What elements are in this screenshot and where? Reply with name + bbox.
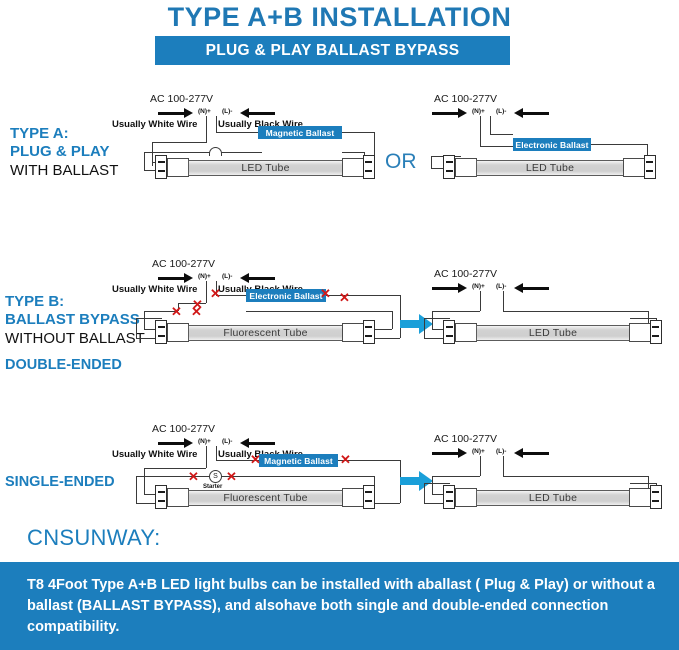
x-mark-se-3: ✕ (250, 454, 261, 465)
x-mark-se-2: ✕ (226, 471, 237, 482)
wire-right-down-b (392, 311, 393, 329)
tube-left-neck-b-right (455, 323, 477, 342)
arrow-head-line-in-right-icon (458, 108, 467, 118)
ac-voltage-label-se: AC 100-277V (152, 423, 215, 435)
arrow-tail-out-se (249, 442, 275, 445)
tube-right-pin-1-se (365, 491, 372, 493)
arrow-head-line-in-icon (184, 108, 193, 118)
tube-left-endcap-se-right (443, 485, 455, 509)
tube-left-pin-1 (158, 161, 165, 163)
subtitle-banner: PLUG & PLAY BALLAST BYPASS (155, 36, 510, 65)
arrow-tail-out-se-right (523, 452, 549, 455)
wire-live-to-ballast (216, 132, 258, 133)
footer-banner: T8 4Foot Type A+B LED light bulbs can be… (0, 562, 679, 650)
wire-left-outer-run-b-right (424, 318, 450, 319)
tube-left-neck-b (167, 323, 189, 342)
arrow-head-line-out-se-icon (240, 438, 249, 448)
wire-left-down-right-diagram (431, 156, 432, 168)
arrow-head-line-in-se-icon (184, 438, 193, 448)
wire-neutral-left-run-se-right (432, 476, 480, 477)
tube-left-neck-right (455, 158, 477, 177)
section-label-type-a: TYPE A: PLUG & PLAY WITH BALLAST (10, 125, 118, 180)
wire-top-left-run (152, 142, 207, 143)
x-mark-bypass-6: ✕ (339, 292, 350, 303)
tube-right-neck-b (342, 323, 364, 342)
arrow-head-line-in-se-right-icon (458, 448, 467, 458)
type-b-label-line1: TYPE B: (5, 293, 145, 311)
led-tube-body: LED Tube (188, 160, 343, 176)
subtitle-text: PLUG & PLAY BALLAST BYPASS (206, 42, 460, 60)
fluorescent-tube-label-se: Fluorescent Tube (223, 492, 307, 504)
brand-name: CNSUNWAY: (27, 525, 161, 551)
tube-right-endcap-se-right (650, 485, 662, 509)
section-label-type-b: TYPE B: BALLAST BYPASS WITHOUT BALLAST (5, 293, 145, 348)
arrow-tail-in-se (158, 442, 184, 445)
tube-right-pin-1-b-right (652, 326, 659, 328)
wire-live-drop-b-right (503, 291, 504, 311)
tube-right-pin-1-right (646, 161, 653, 163)
wire-neutral-drop-right (480, 116, 481, 146)
arrow-head-line-out-icon (240, 108, 249, 118)
wire-to-ballast-right-2 (490, 134, 513, 135)
tube-left-neck-se-right (455, 488, 477, 507)
tube-left-neck-se (167, 488, 189, 507)
arrow-head-line-out-se-right-icon (514, 448, 523, 458)
starter-symbol-icon: S (209, 470, 222, 483)
tube-left-pin-2-b-right (446, 335, 453, 337)
type-b-label-line3: WITHOUT BALLAST (5, 330, 145, 348)
wire-ballast-bottom-b (246, 311, 392, 312)
wire-ballast-right-out (342, 132, 374, 133)
led-tube-body-se-right: LED Tube (476, 490, 630, 506)
wire-left-outer-run-se-right (424, 483, 450, 484)
wire-live-right-run-se-right (503, 476, 648, 477)
pin-label-live-b: (L)- (222, 273, 232, 280)
arrow-tail-in-b (158, 277, 184, 280)
wire-left-down-2 (144, 152, 145, 170)
wire-left-outer-down-se-right (424, 483, 425, 503)
pin-label-neutral-se-right: (N)+ (472, 448, 485, 455)
pin-label-neutral: (N)+ (198, 108, 211, 115)
tube-right-pin-2-se-right (652, 500, 659, 502)
led-tube-body-b-right: LED Tube (476, 325, 630, 341)
tube-left-endcap (155, 155, 167, 179)
type-a-label-line3: WITH BALLAST (10, 162, 118, 180)
footer-description: T8 4Foot Type A+B LED light bulbs can be… (27, 575, 659, 638)
wire-right-outer-run-se-right (630, 483, 656, 484)
magnetic-ballast-label: Magnetic Ballast (266, 128, 335, 138)
arrow-tail-out-right (523, 112, 549, 115)
wire-left-down-se (144, 468, 145, 494)
arrow-head-line-in-b-icon (184, 273, 193, 283)
pin-label-neutral-b-right: (N)+ (472, 283, 485, 290)
tube-left-pin-2 (158, 170, 165, 172)
installation-diagram-page: TYPE A+B INSTALLATION PLUG & PLAY BALLAS… (0, 0, 679, 650)
white-wire-label: Usually White Wire (112, 119, 197, 130)
ac-voltage-label-se-right: AC 100-277V (434, 433, 497, 445)
tube-right-pin-1 (365, 161, 372, 163)
or-connector-text: OR (385, 150, 417, 174)
pin-label-live-se: (L)- (222, 438, 232, 445)
tube-right-pin-2-b-right (652, 335, 659, 337)
wire-to-ballast-right (480, 146, 513, 147)
tube-left-pin-2-b (158, 335, 165, 337)
electronic-ballast-box: Electronic Ballast (513, 138, 591, 151)
pin-label-neutral-se: (N)+ (198, 438, 211, 445)
tube-right-neck-b-right (629, 323, 651, 342)
pin-label-neutral-b: (N)+ (198, 273, 211, 280)
ac-voltage-label-right: AC 100-277V (434, 93, 497, 105)
arrow-head-line-out-b-right-icon (514, 283, 523, 293)
arrow-tail-in-se-right (432, 452, 458, 455)
tube-left-pin-1-se (158, 491, 165, 493)
page-title: TYPE A+B INSTALLATION (0, 2, 679, 33)
starter-symbol-letter: S (213, 473, 218, 480)
led-tube-label-se-right: LED Tube (529, 492, 577, 504)
wire-live-right-run-b-right (503, 311, 648, 312)
tube-right-pin-2-b (365, 335, 372, 337)
magnetic-ballast-label-se: Magnetic Ballast (264, 456, 333, 466)
wire-left-outer-run-se (136, 476, 162, 477)
wire-neutral-drop-se-right (480, 456, 481, 476)
wire-left-down-se-right (432, 476, 433, 494)
wire-left-outer-down-b-right (424, 318, 425, 338)
wire-neutral-drop-b-right (480, 291, 481, 311)
wire-live-drop-se-right (503, 456, 504, 476)
tube-left-pin-2-se-right (446, 500, 453, 502)
tube-left-endcap-b-right (443, 320, 455, 344)
arrow-head-line-out-right-icon (514, 108, 523, 118)
white-wire-label-se: Usually White Wire (112, 449, 197, 460)
tube-left-pin-2-se (158, 500, 165, 502)
tube-right-endcap (363, 155, 375, 179)
arrow-tail-out (249, 112, 275, 115)
tube-right-pin-2-right (646, 170, 653, 172)
tube-right-endcap-se (363, 485, 375, 509)
tube-right-neck-se (342, 488, 364, 507)
type-a-label-line1: TYPE A: (10, 125, 118, 143)
wire-neutral-drop-b (206, 281, 207, 303)
wire-live-drop (216, 116, 217, 132)
single-ended-label: SINGLE-ENDED (5, 474, 115, 490)
arrow-tail-out-b (249, 277, 275, 280)
type-b-label-line2: BALLAST BYPASS (5, 311, 145, 329)
wire-crossover-hop-icon (209, 147, 222, 156)
tube-right-endcap-right (644, 155, 656, 179)
led-tube-label: LED Tube (241, 162, 289, 174)
wire-second-run (144, 152, 207, 153)
wire-left-outer-run-b (136, 318, 162, 319)
fluorescent-tube-label: Fluorescent Tube (223, 327, 307, 339)
wire-left-down-b-right (432, 311, 433, 329)
tube-right-pin-1-b (365, 326, 372, 328)
tube-left-pin-2-right (446, 170, 453, 172)
led-tube-body-right: LED Tube (476, 160, 624, 176)
wire-right-cap-run-b (374, 329, 392, 330)
arrow-tail-in-b-right (432, 287, 458, 290)
x-mark-bypass-4: ✕ (191, 306, 202, 317)
fluorescent-tube-body: Fluorescent Tube (188, 325, 343, 341)
tube-left-endcap-se (155, 485, 167, 509)
electronic-ballast-label-b: Electronic Ballast (249, 291, 322, 301)
pin-label-live: (L)- (222, 108, 232, 115)
tube-left-pin-1-right (446, 161, 453, 163)
pin-label-neutral-right: (N)+ (472, 108, 485, 115)
tube-right-pin-2 (365, 170, 372, 172)
led-tube-label-right: LED Tube (526, 162, 574, 174)
tube-right-neck-right (623, 158, 645, 177)
tube-right-pin-1-se-right (652, 491, 659, 493)
ac-voltage-label-b-right: AC 100-277V (434, 268, 497, 280)
type-a-label-line2: PLUG & PLAY (10, 143, 118, 161)
tube-left-neck (167, 158, 189, 177)
x-mark-bypass-2: ✕ (210, 288, 221, 299)
ac-voltage-label: AC 100-277V (150, 93, 213, 105)
white-wire-label-b: Usually White Wire (112, 284, 197, 295)
electronic-ballast-label: Electronic Ballast (515, 140, 588, 150)
x-mark-se-1: ✕ (188, 471, 199, 482)
wire-right-outer-cap-se (374, 503, 400, 504)
wire-ballast-out-right (591, 144, 647, 145)
x-mark-se-4: ✕ (340, 454, 351, 465)
tube-left-endcap-b (155, 320, 167, 344)
tube-right-neck (342, 158, 364, 177)
wire-left-outer-down-b (136, 318, 137, 338)
tube-right-endcap-b-right (650, 320, 662, 344)
arrow-head-line-in-b-right-icon (458, 283, 467, 293)
fluorescent-tube-body-se: Fluorescent Tube (188, 490, 343, 506)
arrow-head-line-out-b-icon (240, 273, 249, 283)
wire-left-outer-down-se (136, 476, 137, 503)
arrow-tail-in-right (432, 112, 458, 115)
pin-label-live-se-right: (L)- (496, 448, 506, 455)
tube-right-pin-2-se (365, 500, 372, 502)
wire-right-outer-cap-b (374, 338, 400, 339)
led-tube-label-b-right: LED Tube (529, 327, 577, 339)
tube-right-neck-se-right (629, 488, 651, 507)
tube-left-pin-1-se-right (446, 491, 453, 493)
magnetic-ballast-box: Magnetic Ballast (258, 126, 342, 139)
wire-neutral-drop (206, 116, 207, 142)
tube-right-endcap-b (363, 320, 375, 344)
x-mark-bypass-5: ✕ (320, 288, 331, 299)
double-ended-label: DOUBLE-ENDED (5, 357, 122, 373)
magnetic-ballast-box-se: Magnetic Ballast (259, 454, 338, 467)
pin-label-live-right: (L)- (496, 108, 506, 115)
wire-left-down-b (144, 311, 145, 329)
wire-live-drop-right (490, 116, 491, 134)
wire-ballast-right-out-2 (342, 152, 364, 153)
wire-neutral-drop-se (206, 446, 207, 468)
tube-left-pin-1-b-right (446, 326, 453, 328)
tube-left-endcap-right (443, 155, 455, 179)
pin-label-live-b-right: (L)- (496, 283, 506, 290)
arrow-tail-in (158, 112, 184, 115)
electronic-ballast-box-b: Electronic Ballast (246, 289, 326, 302)
tube-left-pin-1-b (158, 326, 165, 328)
wire-neutral-left-run-b-right (432, 311, 480, 312)
wire-live-drop-se (216, 446, 217, 460)
x-mark-bypass-3: ✕ (171, 306, 182, 317)
ac-voltage-label-b: AC 100-277V (152, 258, 215, 270)
wire-right-outer-run-b-right (630, 318, 656, 319)
arrow-tail-out-b-right (523, 287, 549, 290)
